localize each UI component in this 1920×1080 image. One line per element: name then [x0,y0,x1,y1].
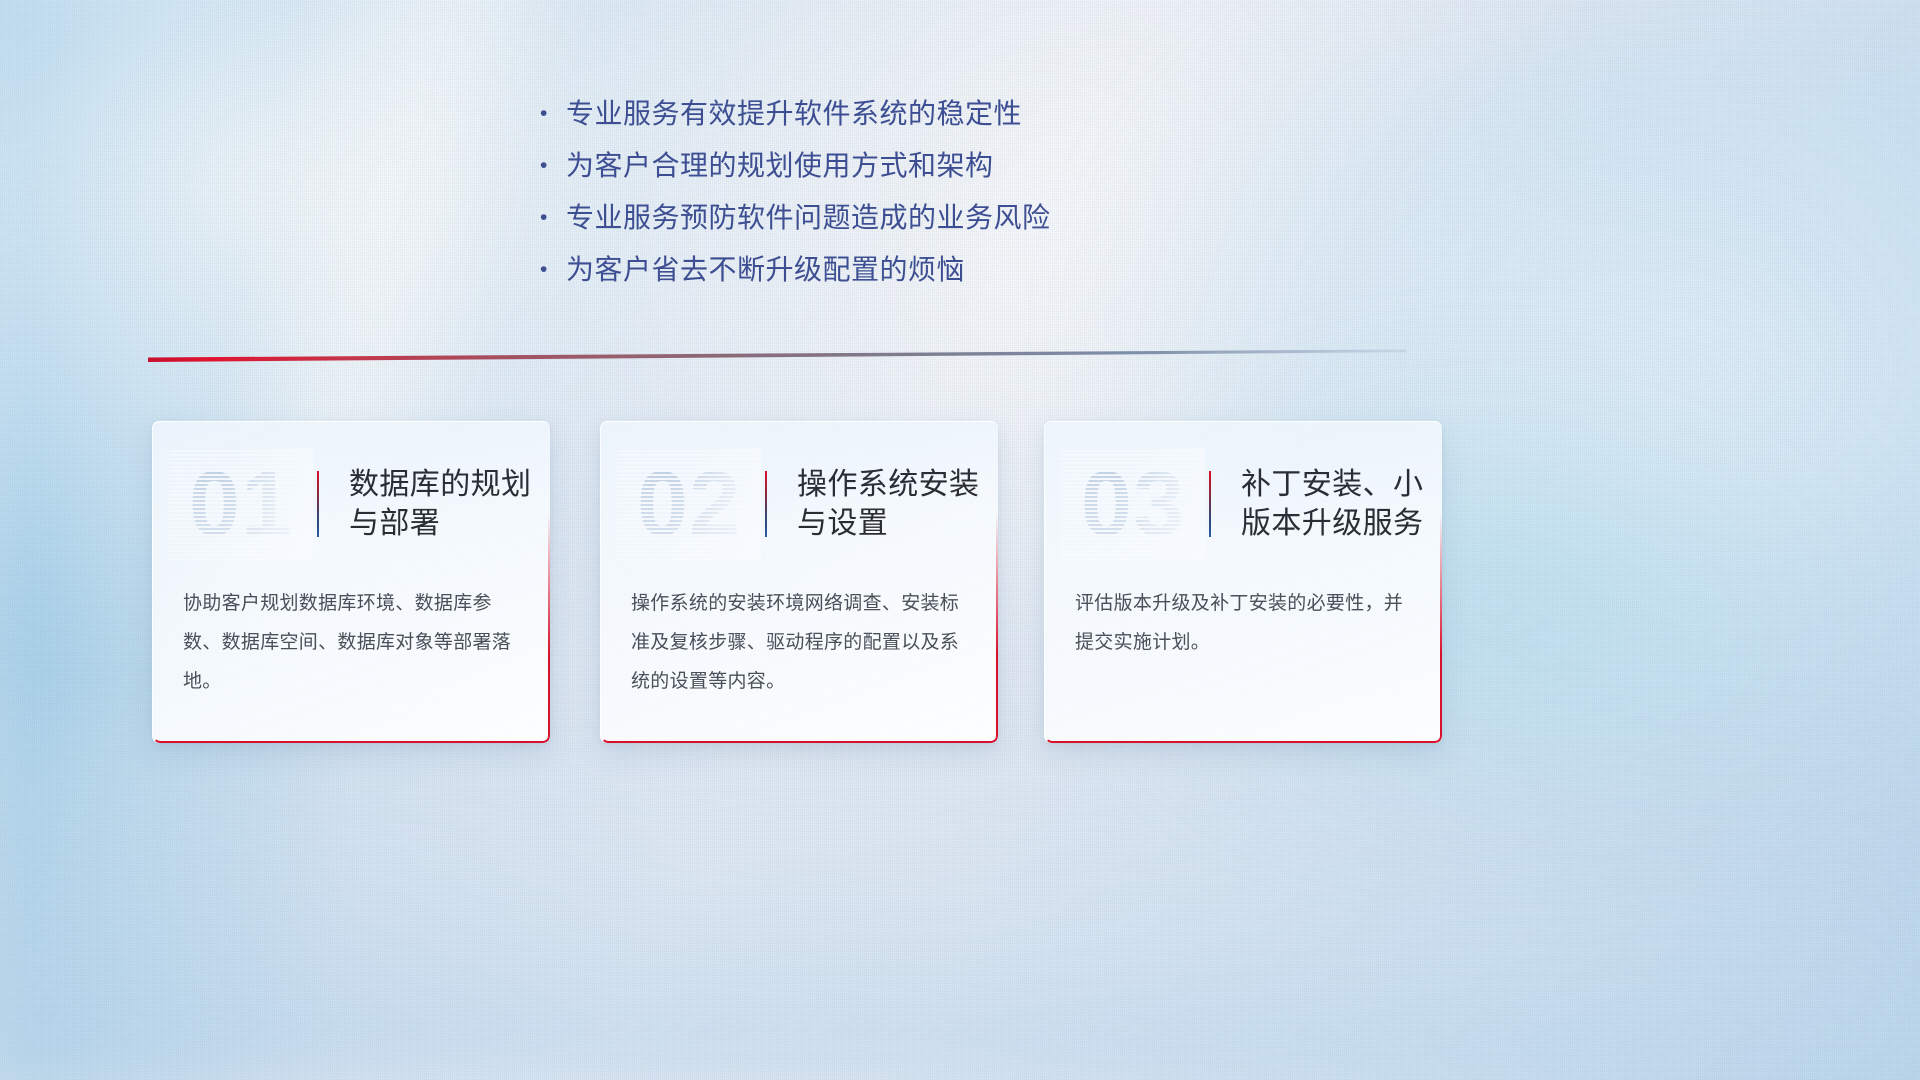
service-card-01[interactable]: 01 数据库的规划与部署 协助客户规划数据库环境、数据库参数、数据库空间、数据库… [152,421,550,743]
card-body-text: 操作系统的安装环境网络调查、安装标准及复核步骤、驱动程序的配置以及系统的设置等内… [631,584,972,701]
bullet-text: 为客户合理的规划使用方式和架构 [566,144,994,184]
card-body-text: 协助客户规划数据库环境、数据库参数、数据库空间、数据库对象等部署落地。 [183,584,524,701]
card-header: 03 补丁安装、小版本升级服务 [1045,440,1442,568]
bullet-text: 为客户省去不断升级配置的烦恼 [566,248,965,288]
bullet-dot-icon: • [540,259,566,280]
benefits-bullet-list: • 专业服务有效提升软件系统的稳定性 • 为客户合理的规划使用方式和架构 • 专… [540,92,1280,300]
card-header: 02 操作系统安装与设置 [601,440,998,568]
bullet-dot-icon: • [540,155,566,176]
card-number-watermark: 02 [623,452,755,556]
card-accent-bar [1209,471,1211,537]
bullet-item-3: • 专业服务预防软件问题造成的业务风险 [540,196,1280,248]
card-header: 01 数据库的规划与部署 [153,440,550,568]
card-number-text: 02 [623,452,755,556]
service-card-03[interactable]: 03 补丁安装、小版本升级服务 评估版本升级及补丁安装的必要性，并提交实施计划。 [1044,421,1442,743]
bullet-item-2: • 为客户合理的规划使用方式和架构 [540,144,1280,196]
card-number-text: 03 [1067,452,1199,556]
service-card-group: 01 数据库的规划与部署 协助客户规划数据库环境、数据库参数、数据库空间、数据库… [0,421,1920,746]
card-title: 数据库的规划与部署 [323,465,550,543]
card-number-watermark: 01 [175,452,307,556]
bullet-text: 专业服务有效提升软件系统的稳定性 [566,92,1022,132]
card-title: 操作系统安装与设置 [771,465,998,543]
bullet-dot-icon: • [540,103,566,124]
bullet-dot-icon: • [540,207,566,228]
bullet-item-1: • 专业服务有效提升软件系统的稳定性 [540,92,1280,144]
card-body-text: 评估版本升级及补丁安装的必要性，并提交实施计划。 [1075,584,1416,662]
card-number-watermark: 03 [1067,452,1199,556]
card-number-text: 01 [175,452,307,556]
bullet-item-4: • 为客户省去不断升级配置的烦恼 [540,248,1280,300]
card-accent-bar [765,471,767,537]
card-title: 补丁安装、小版本升级服务 [1215,465,1442,543]
gradient-divider-line [148,344,1406,366]
bullet-text: 专业服务预防软件问题造成的业务风险 [566,196,1051,236]
card-accent-bar [317,471,319,537]
service-card-02[interactable]: 02 操作系统安装与设置 操作系统的安装环境网络调查、安装标准及复核步骤、驱动程… [600,421,998,743]
